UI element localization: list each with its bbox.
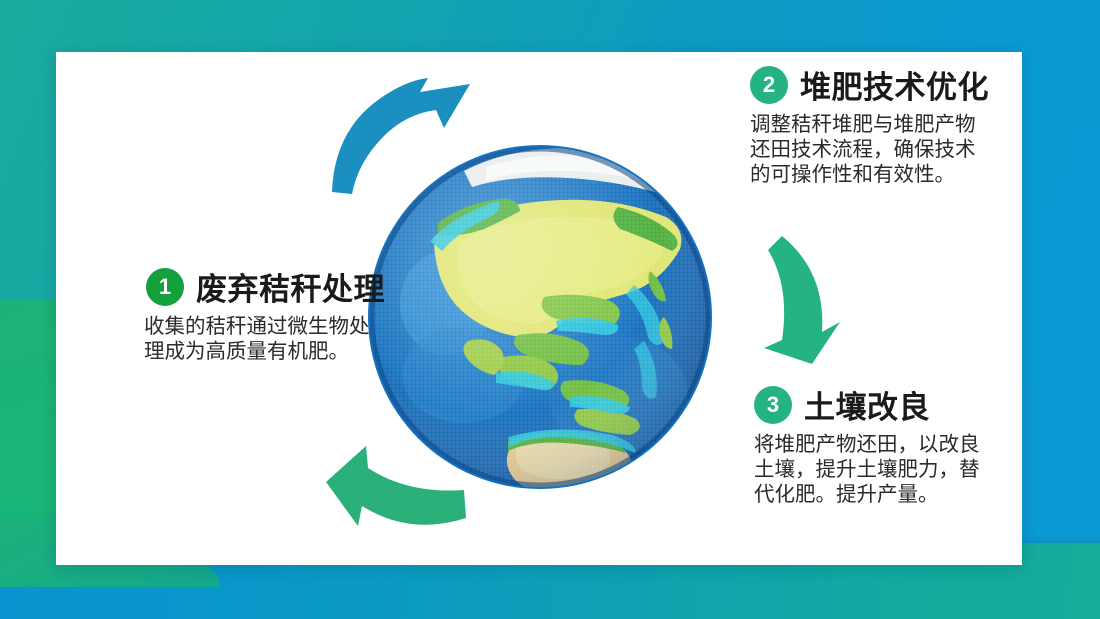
- section-1-number-badge: 1: [146, 268, 184, 306]
- section-2-header: 2 堆肥技术优化: [750, 62, 1050, 107]
- slide-canvas: 1 废弃秸秆处理 收集的秸秆通过微生物处 理成为高质量有机肥。 2 堆肥技术优化…: [0, 0, 1100, 619]
- arrow-right: [742, 230, 882, 370]
- section-1-header: 1 废弃秸秆处理: [146, 264, 430, 309]
- section-3-number-badge: 3: [754, 386, 792, 424]
- section-3-header: 3 土壤改良: [754, 382, 1054, 427]
- section-2-title: 堆肥技术优化: [800, 62, 989, 107]
- arrow-bottom-left: [318, 420, 474, 542]
- section-2-number-badge: 2: [750, 66, 788, 104]
- content-card: 1 废弃秸秆处理 收集的秸秆通过微生物处 理成为高质量有机肥。 2 堆肥技术优化…: [56, 52, 1022, 565]
- arrow-top-left: [324, 70, 484, 196]
- section-3-body: 将堆肥产物还田，以改良 土壤，提升土壤肥力，替 代化肥。提升产量。: [754, 432, 1054, 507]
- section-1-title: 废弃秸秆处理: [196, 264, 385, 309]
- section-2-body: 调整秸秆堆肥与堆肥产物 还田技术流程，确保技术 的可操作性和有效性。: [750, 112, 1050, 187]
- section-3-title: 土壤改良: [804, 382, 930, 427]
- section-1-body: 收集的秸秆通过微生物处 理成为高质量有机肥。: [144, 314, 430, 364]
- section-waste-straw-treatment: 1 废弃秸秆处理 收集的秸秆通过微生物处 理成为高质量有机肥。: [140, 264, 430, 364]
- section-composting-optimization: 2 堆肥技术优化 调整秸秆堆肥与堆肥产物 还田技术流程，确保技术 的可操作性和有…: [750, 62, 1050, 187]
- section-soil-improvement: 3 土壤改良 将堆肥产物还田，以改良 土壤，提升土壤肥力，替 代化肥。提升产量。: [754, 382, 1054, 507]
